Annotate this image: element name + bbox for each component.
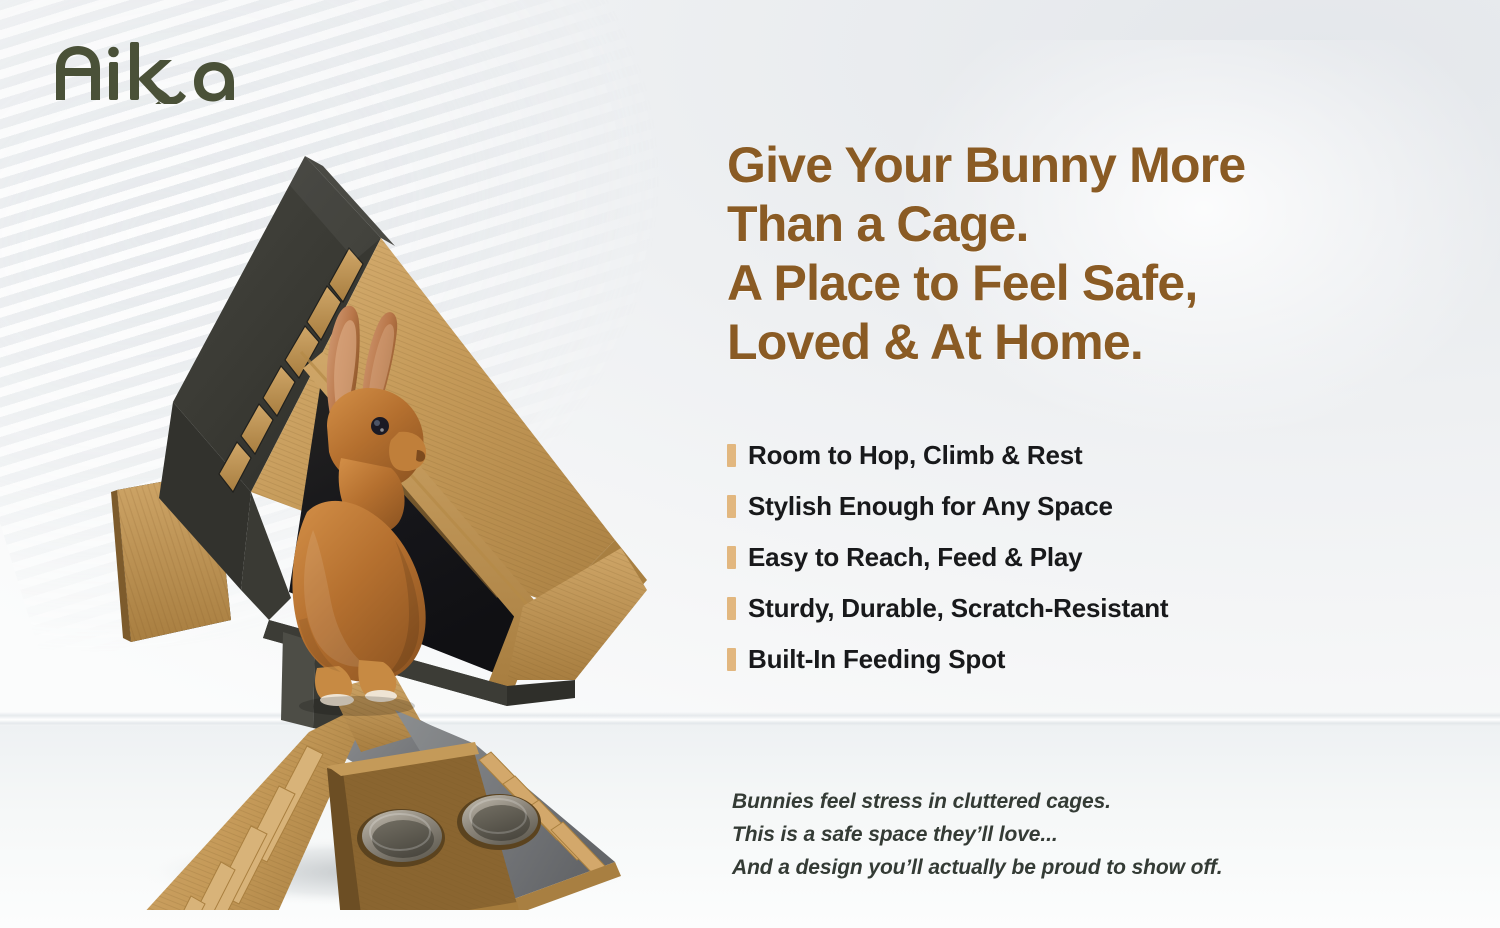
feature-label: Sturdy, Durable, Scratch-Resistant <box>748 593 1168 624</box>
list-item: Built-In Feeding Spot <box>727 634 1427 685</box>
bullet-marker-icon <box>727 597 736 620</box>
bullet-marker-icon <box>727 648 736 671</box>
feature-label: Built-In Feeding Spot <box>748 644 1005 675</box>
copy-column: Give Your Bunny More Than a Cage. A Plac… <box>727 136 1447 372</box>
product-marketing-banner: Give Your Bunny More Than a Cage. A Plac… <box>0 0 1500 928</box>
product-image-rabbit-house <box>55 120 735 910</box>
footnote-text: Bunnies feel stress in cluttered cages. … <box>732 785 1432 884</box>
bullet-marker-icon <box>727 444 736 467</box>
recessed-feeding-nook <box>327 742 541 910</box>
page-title: Give Your Bunny More Than a Cage. A Plac… <box>727 136 1447 372</box>
feature-label: Stylish Enough for Any Space <box>748 491 1113 522</box>
feature-label: Room to Hop, Climb & Rest <box>748 440 1082 471</box>
bullet-marker-icon <box>727 495 736 518</box>
stainless-steel-bowl-left <box>357 809 445 867</box>
bullet-marker-icon <box>727 546 736 569</box>
feature-label: Easy to Reach, Feed & Play <box>748 542 1082 573</box>
list-item: Sturdy, Durable, Scratch-Resistant <box>727 583 1427 634</box>
list-item: Easy to Reach, Feed & Play <box>727 532 1427 583</box>
stainless-steel-bowl-right <box>457 794 541 850</box>
list-item: Stylish Enough for Any Space <box>727 481 1427 532</box>
list-item: Room to Hop, Climb & Rest <box>727 430 1427 481</box>
brand-logo <box>52 38 242 104</box>
feature-list: Room to Hop, Climb & Rest Stylish Enough… <box>727 430 1427 685</box>
